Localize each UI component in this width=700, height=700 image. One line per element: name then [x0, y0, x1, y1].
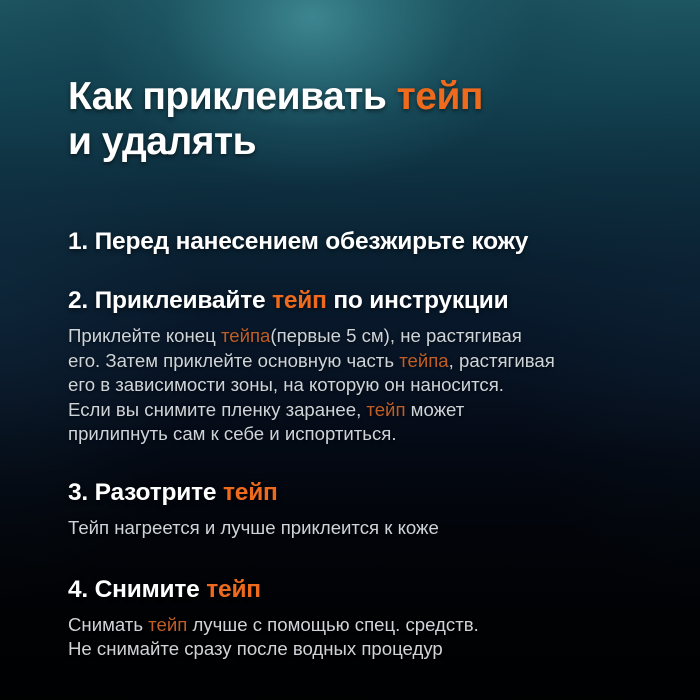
body-text: прилипнуть сам к себе и испортиться.	[68, 423, 397, 444]
step-4-body: Снимать тейп лучше с помощью спец. средс…	[68, 613, 638, 662]
body-text: Если вы снимите пленку заранее,	[68, 399, 366, 420]
step-3-heading-accent: тейп	[223, 479, 278, 506]
body-text: Тейп нагреется и лучше приклеится к коже	[68, 517, 439, 538]
step-3-heading-text: 3. Разотрите	[68, 479, 223, 506]
body-accent-text: тейпа	[399, 350, 448, 371]
step-1-heading: 1. Перед нанесением обезжирьте кожу	[68, 227, 638, 257]
body-text: (первые 5 см), не растягивая	[270, 325, 521, 346]
body-text: Не снимайте сразу после водных процедур	[68, 638, 443, 659]
body-accent-text: тейп	[366, 399, 405, 420]
body-text: Приклейте конец	[68, 325, 221, 346]
page-title: Как приклеивать тейп и удалять	[68, 0, 638, 164]
title-line-2-text: и удалять	[68, 120, 256, 163]
poster-content: Как приклеивать тейп и удалять 1. Перед …	[0, 0, 700, 700]
body-text: может	[406, 399, 465, 420]
body-text: , растягивая	[449, 350, 555, 371]
step-3-heading: 3. Разотрите тейп	[68, 478, 638, 508]
instruction-poster: Как приклеивать тейп и удалять 1. Перед …	[0, 0, 700, 700]
step-4-heading-accent: тейп	[206, 576, 261, 603]
step-1-heading-text: 1. Перед нанесением обезжирьте кожу	[68, 228, 528, 255]
step-2-heading-text: 2. Приклеивайте	[68, 287, 272, 314]
title-line-1-accent: тейп	[397, 75, 483, 118]
step-2-heading-accent: тейп	[272, 287, 327, 314]
body-text: Снимать	[68, 614, 148, 635]
step-2-heading-tail: по инструкции	[327, 287, 509, 314]
step-2-body: Приклейте конец тейпа(первые 5 см), не р…	[68, 324, 638, 447]
title-line-1-text: Как приклеивать	[68, 75, 397, 118]
step-4-heading-text: 4. Снимите	[68, 576, 206, 603]
body-accent-text: тейп	[148, 614, 187, 635]
body-text: его в зависимости зоны, на которую он на…	[68, 374, 504, 395]
step-4-heading: 4. Снимите тейп	[68, 575, 638, 605]
body-text: его. Затем приклейте основную часть	[68, 350, 399, 371]
body-accent-text: тейпа	[221, 325, 270, 346]
body-text: лучше с помощью спец. средств.	[187, 614, 478, 635]
step-2-heading: 2. Приклеивайте тейп по инструкции	[68, 286, 638, 316]
step-3-body: Тейп нагреется и лучше приклеится к коже	[68, 516, 638, 541]
